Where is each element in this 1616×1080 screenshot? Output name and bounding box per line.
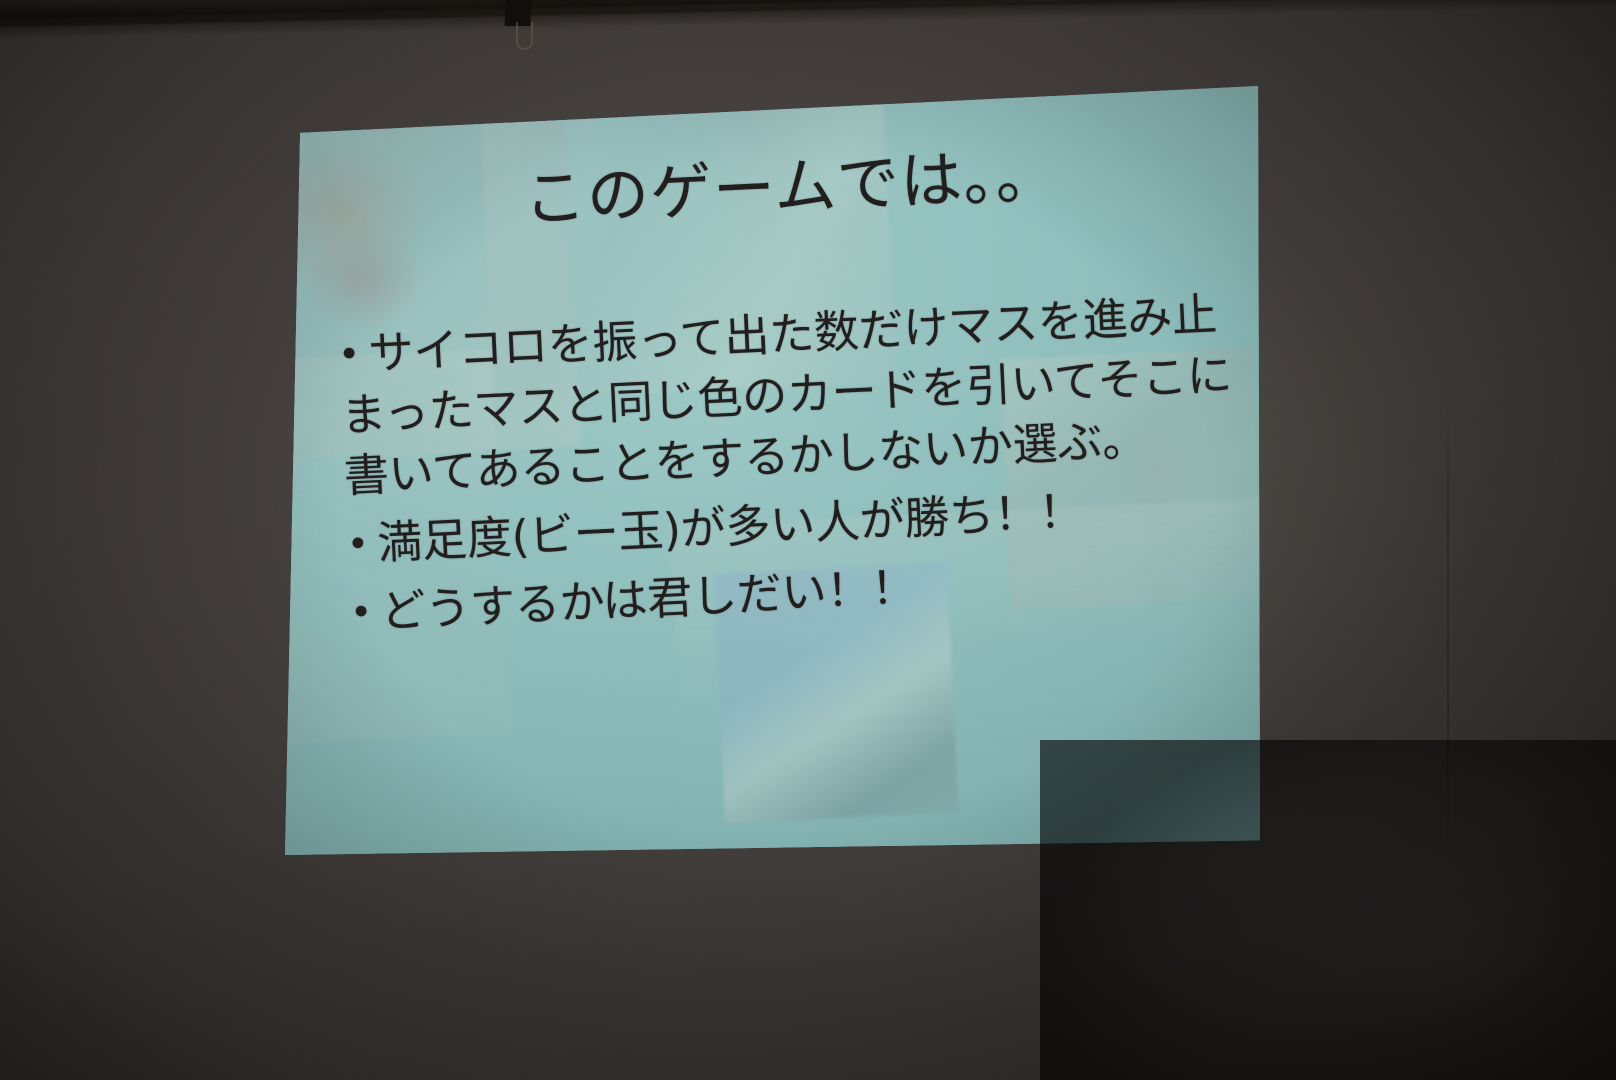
slide-surface: このゲームでは。。 • サイコロを振って出た数だけマスを進み止 まったマスと同じ… — [285, 86, 1260, 855]
projection-screen-area: このゲームでは。。 • サイコロを振って出た数だけマスを進み止 まったマスと同じ… — [0, 0, 1616, 1080]
list-item: • サイコロを振って出た数だけマスを進み止 まったマスと同じ色のカードを引いてそ… — [335, 283, 1260, 508]
bullet-text: サイコロを振って出た数だけマスを進み止 まったマスと同じ色のカードを引いてそこに… — [367, 283, 1260, 506]
projected-slide: このゲームでは。。 • サイコロを振って出た数だけマスを進み止 まったマスと同じ… — [285, 86, 1260, 855]
bullet-marker-icon: • — [335, 324, 372, 386]
slide-title: このゲームでは。。 — [285, 131, 1260, 248]
bullet-marker-icon: • — [347, 582, 384, 644]
scene-root: このゲームでは。。 • サイコロを振って出た数だけマスを進み止 まったマスと同じ… — [0, 0, 1616, 1080]
slide-content: このゲームでは。。 • サイコロを振って出た数だけマスを進み止 まったマスと同じ… — [285, 86, 1260, 855]
bullet-marker-icon: • — [344, 513, 381, 575]
slide-bullet-list: • サイコロを振って出た数だけマスを進み止 まったマスと同じ色のカードを引いてそ… — [335, 283, 1260, 652]
